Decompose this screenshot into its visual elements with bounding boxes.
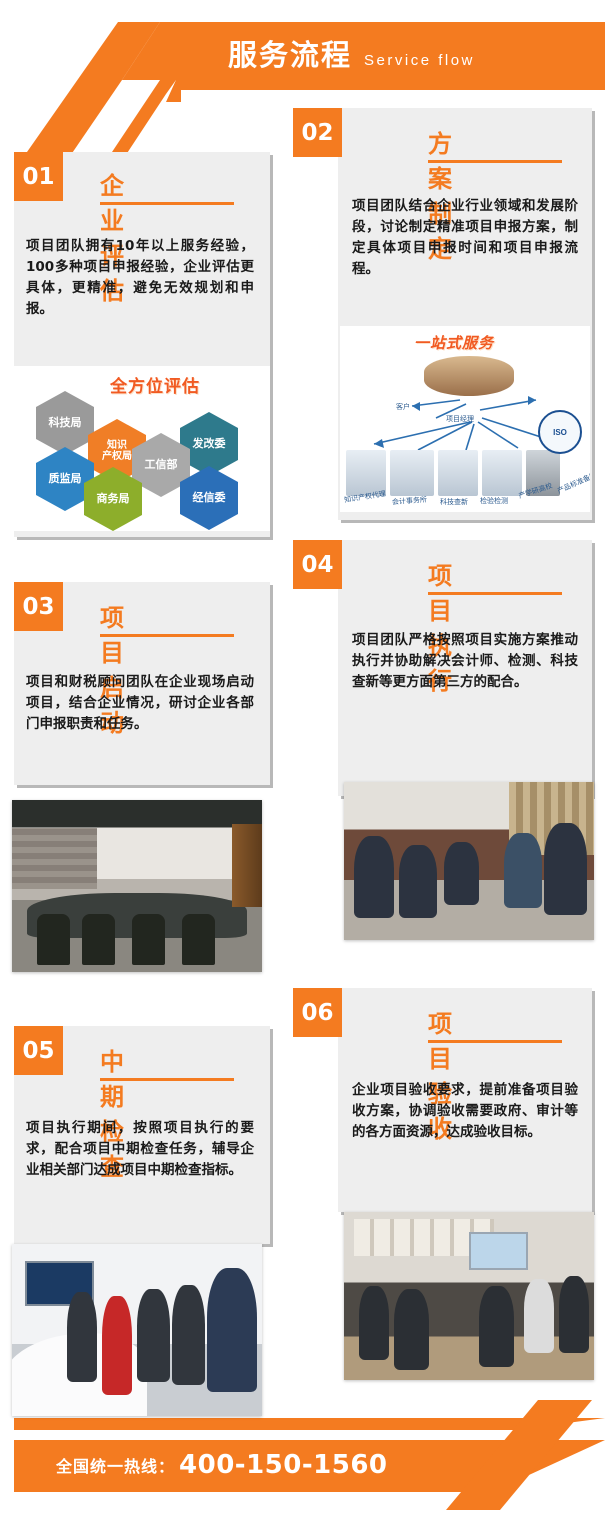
person-shape xyxy=(172,1285,205,1385)
step-title-rule-06 xyxy=(428,1040,562,1043)
step-title-rule-03 xyxy=(100,634,234,637)
step-photo-03 xyxy=(12,800,262,972)
one-stop-iso-seal: ISO xyxy=(538,410,582,454)
one-stop-partner-3: 科技查新 xyxy=(440,497,468,507)
step-number-badge-01: 01 xyxy=(14,152,63,201)
conference-chair-shape xyxy=(182,914,215,966)
step-body-06: 企业项目验收要求，提前准备项目验收方案，协调验收需要政府、审计等的各方面资源，达… xyxy=(352,1080,578,1143)
step-number-badge-02: 02 xyxy=(293,108,342,157)
step-body-02: 项目团队结合企业行业领域和发展阶段，讨论制定精准项目申报方案，制定具体项目申报时… xyxy=(352,196,578,280)
person-shape xyxy=(67,1292,97,1381)
person-shape xyxy=(394,1289,429,1370)
person-shape xyxy=(504,833,542,909)
one-stop-tile-2 xyxy=(390,450,434,496)
step-body-04: 项目团队严格按照项目实施方案推动执行并协助解决会计师、检测、科技查新等更方面第三… xyxy=(352,630,578,693)
person-shape-red-coat xyxy=(102,1296,132,1396)
hotline-label: 全国统一热线： xyxy=(56,1453,175,1477)
page-footer: 全国统一热线： 400-150-1560 xyxy=(0,1418,605,1538)
hex-node-keji: 科技局 xyxy=(36,391,94,455)
step-photo-06 xyxy=(344,1212,594,1380)
step-title-rule-02 xyxy=(428,160,562,163)
step-number-badge-06: 06 xyxy=(293,988,342,1037)
hotline: 全国统一热线： 400-150-1560 xyxy=(56,1450,388,1480)
step-title-rule-05 xyxy=(100,1078,234,1081)
step-number-badge-04: 04 xyxy=(293,540,342,589)
person-shape xyxy=(524,1279,554,1353)
step-number-badge-03: 03 xyxy=(14,582,63,631)
one-stop-partner-4: 检验检测 xyxy=(480,496,508,506)
step-body-03: 项目和财税顾问团队在企业现场启动项目，结合企业情况，研讨企业各部门申报职责和任务… xyxy=(26,672,254,735)
person-shape xyxy=(444,842,479,905)
hex-diagram-01: 全方位评估 科技局 知识产权局 发改委 质监局 工信部 商务局 经信委 xyxy=(14,366,270,531)
person-shape xyxy=(207,1268,257,1392)
person-shape xyxy=(559,1276,589,1353)
page-header: 服务流程 Service flow xyxy=(0,0,605,120)
one-stop-service-graphic: 一站式服务 客户 项目经理 ISO 知识产权代理 会计事务所 科技查新 检验检测 xyxy=(340,326,590,512)
step-title-rule-01 xyxy=(100,202,234,205)
step-body-01: 项目团队拥有10年以上服务经验，100多种项目申报经验，企业评估更具体，更精准，… xyxy=(26,236,254,320)
hotline-number: 400-150-1560 xyxy=(179,1450,388,1480)
person-shape xyxy=(399,845,437,918)
person-shape xyxy=(359,1286,389,1360)
hex-diagram-title: 全方位评估 xyxy=(110,372,200,397)
one-stop-tile-4 xyxy=(482,450,522,496)
conference-chair-shape xyxy=(37,914,70,966)
person-shape xyxy=(544,823,587,915)
conference-chair-shape xyxy=(82,914,115,966)
step-title-rule-04 xyxy=(428,592,562,595)
person-shape xyxy=(354,836,394,918)
page-title-en: Service flow xyxy=(364,52,475,69)
person-shape xyxy=(137,1289,170,1382)
step-number-badge-05: 05 xyxy=(14,1026,63,1075)
one-stop-tile-3 xyxy=(438,450,478,496)
conference-chair-shape xyxy=(132,914,165,966)
step-photo-05 xyxy=(12,1244,262,1416)
page-title: 服务流程 Service flow xyxy=(228,32,475,74)
page-title-cn: 服务流程 xyxy=(228,32,352,74)
person-shape xyxy=(479,1286,514,1367)
step-photo-04 xyxy=(344,782,594,940)
step-body-05: 项目执行期间，按照项目执行的要求，配合项目中期检查任务，辅导企业相关部门达成项目… xyxy=(26,1118,254,1181)
